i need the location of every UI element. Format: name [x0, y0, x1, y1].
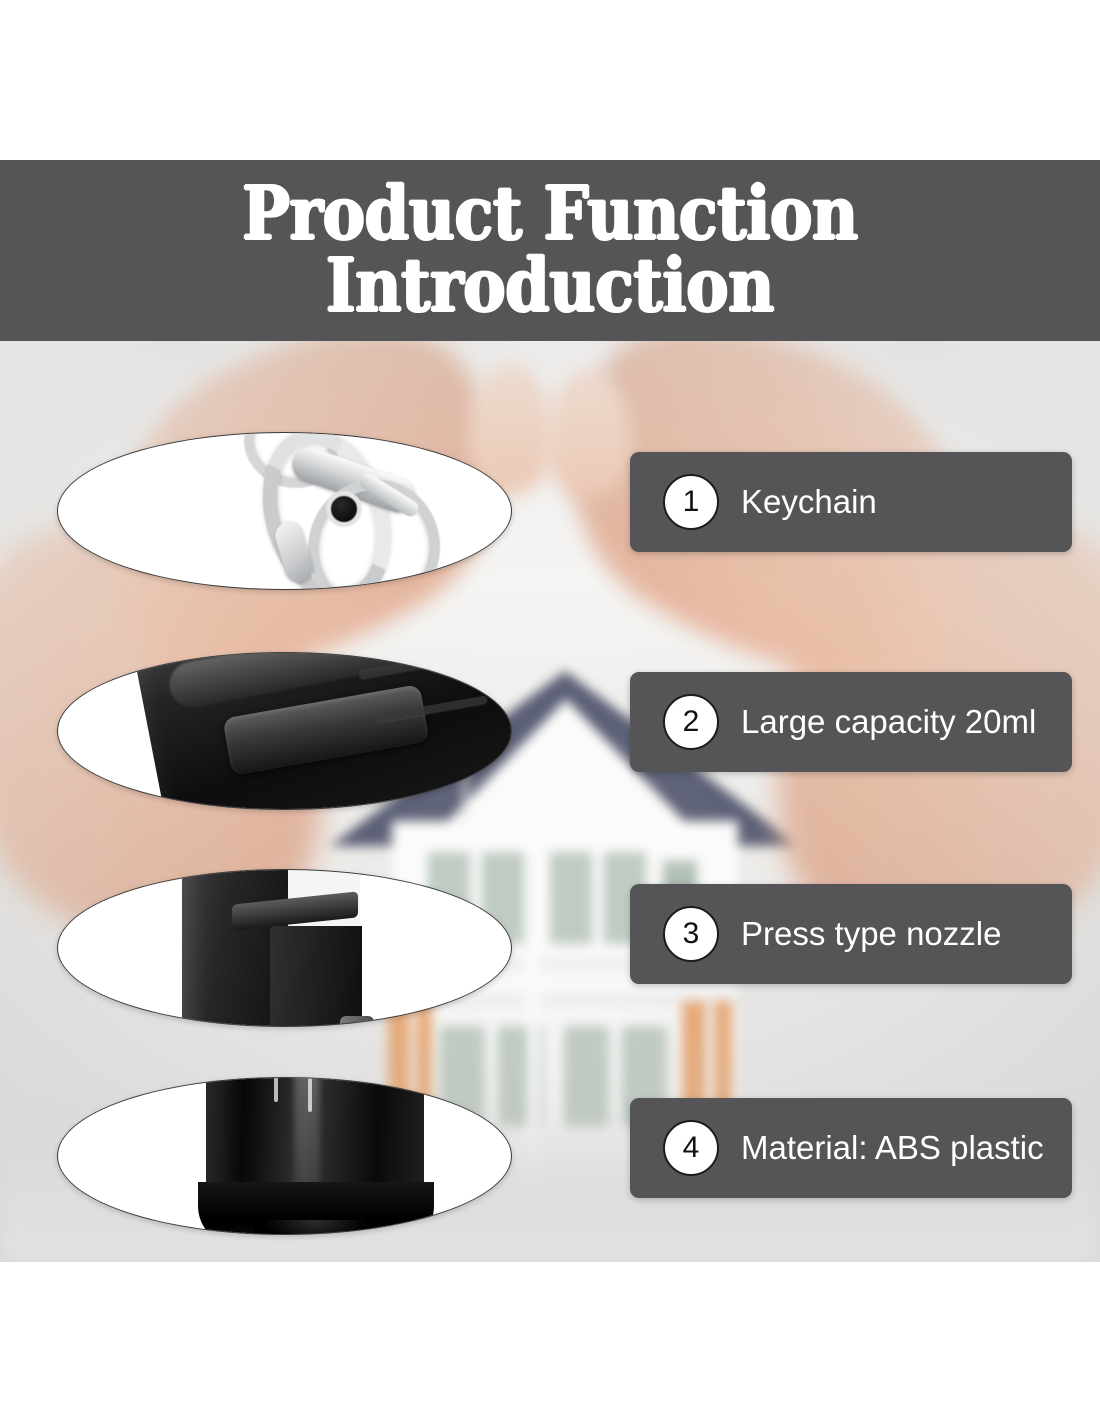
feature-label-text-4: Material: ABS plastic [741, 1130, 1044, 1166]
feature-number-badge-3: 3 [663, 906, 719, 962]
feature-image-1-content [58, 433, 511, 589]
feature-label-text-3: Press type nozzle [741, 916, 1001, 952]
feature-image-oval-1 [57, 432, 512, 590]
feature-label-text-2: Large capacity 20ml [741, 704, 1036, 740]
feature-number-badge-1: 1 [663, 474, 719, 530]
feature-label-text-1: Keychain [741, 484, 877, 520]
bottle-base-foot [254, 1220, 376, 1234]
feature-image-oval-4 [57, 1077, 512, 1235]
bottle-base-gloss [294, 1078, 320, 1198]
feature-number-badge-2: 2 [663, 694, 719, 750]
feature-image-2-content [58, 653, 511, 809]
page-title-line-1: Product Function [242, 179, 858, 250]
feature-image-3-content [58, 870, 511, 1026]
page-title: Product Function Introduction [242, 179, 858, 321]
feature-image-oval-3 [57, 869, 512, 1027]
nozzle-stem [340, 1016, 374, 1026]
feature-image-4-content [58, 1078, 511, 1234]
page-title-line-2: Introduction [242, 251, 858, 322]
product-infographic: Product Function Introduction [0, 0, 1100, 1422]
feature-label-1[interactable]: 1 Keychain [630, 452, 1072, 552]
nozzle-cap-step [270, 926, 362, 1026]
header-banner: Product Function Introduction [0, 160, 1100, 341]
feature-number-badge-4: 4 [663, 1120, 719, 1176]
bottle-base-slit [274, 1078, 278, 1102]
keychain-pivot-rivet [326, 491, 362, 527]
feature-label-2[interactable]: 2 Large capacity 20ml [630, 672, 1072, 772]
feature-label-4[interactable]: 4 Material: ABS plastic [630, 1098, 1072, 1198]
feature-image-oval-2 [57, 652, 512, 810]
product-photo-area: 1 Keychain 2 Large capacity 20ml 3 Press… [0, 341, 1100, 1262]
feature-label-3[interactable]: 3 Press type nozzle [630, 884, 1072, 984]
